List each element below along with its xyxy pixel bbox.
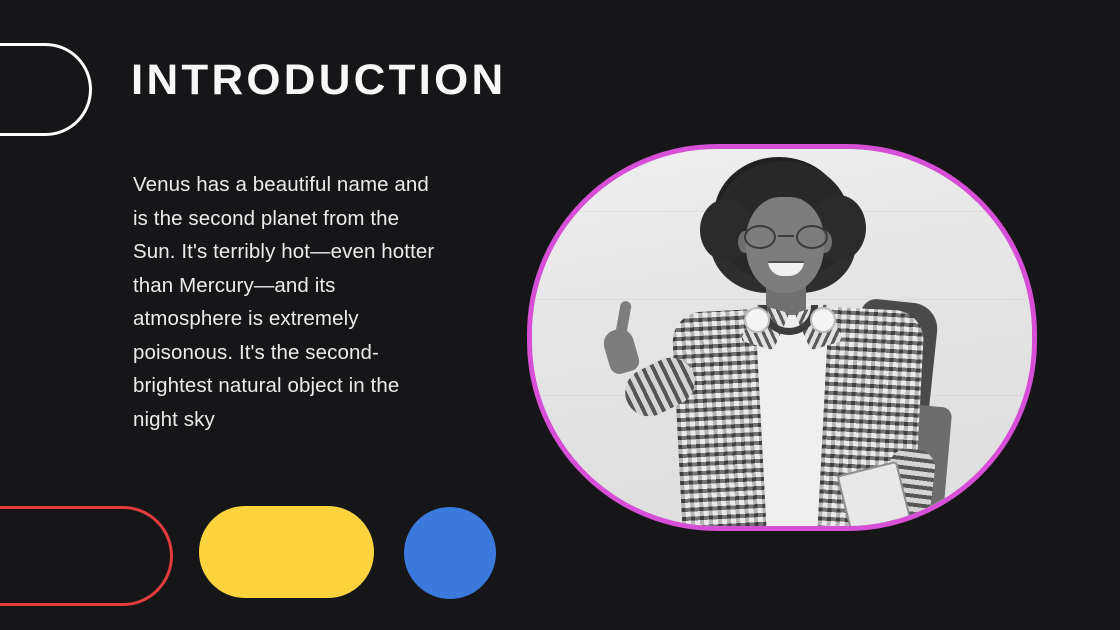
decorative-pill-outline-top-left xyxy=(0,43,92,136)
figure-headphones-cup-right xyxy=(810,307,836,333)
decorative-pill-filled-yellow xyxy=(199,506,374,598)
slide-canvas: INTRODUCTION Venus has a beautiful name … xyxy=(0,0,1120,630)
photo-frame xyxy=(527,144,1037,531)
decorative-circle-blue xyxy=(404,507,496,599)
figure-headphones-cup-left xyxy=(744,307,770,333)
figure-glasses xyxy=(740,225,832,249)
body-paragraph: Venus has a beautiful name and is the se… xyxy=(133,168,443,436)
glasses-lens-right xyxy=(796,225,828,249)
decorative-pill-outline-red xyxy=(0,506,173,606)
glasses-lens-left xyxy=(744,225,776,249)
photo-image xyxy=(532,149,1032,526)
page-title: INTRODUCTION xyxy=(131,58,506,103)
